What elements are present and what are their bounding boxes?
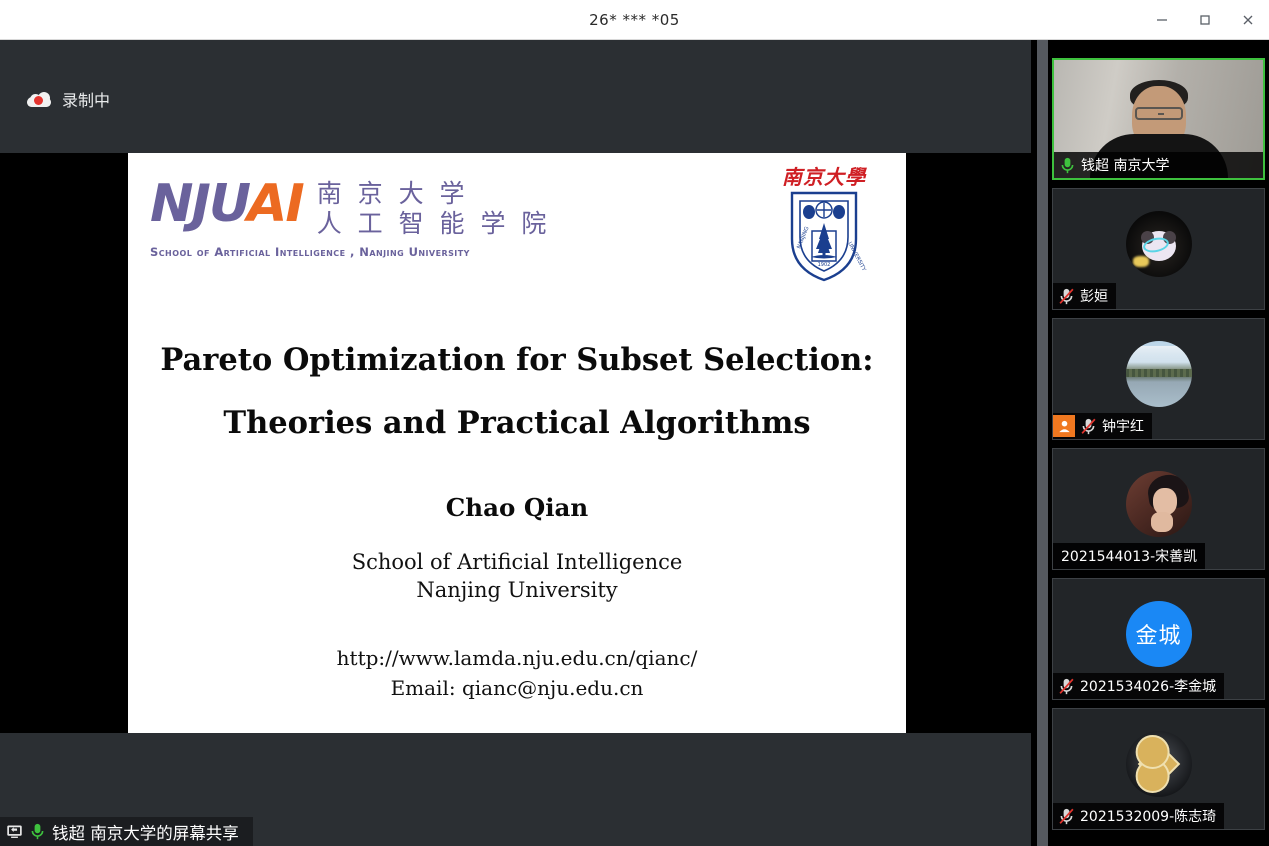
seal-cn-text: 南京大學 xyxy=(778,167,870,187)
slide-email: Email: qianc@nju.edu.cn xyxy=(128,673,906,703)
participant-namebar: 钟宇红 xyxy=(1053,413,1152,439)
presentation-slide: NJU AI 南 京 大 学 人 工 智 能 学 院 School of Art… xyxy=(128,153,906,733)
slide-homepage-url: http://www.lamda.nju.edu.cn/qianc/ xyxy=(128,643,906,673)
participant-name: 2021544013-宋善凯 xyxy=(1061,546,1197,566)
maximize-icon[interactable] xyxy=(1183,0,1226,40)
nju-ai-logo: NJU AI 南 京 大 学 人 工 智 能 学 院 School of Art… xyxy=(150,178,550,259)
logo-cn-line2: 人 工 智 能 学 院 xyxy=(317,210,551,238)
slide-contact: http://www.lamda.nju.edu.cn/qianc/ Email… xyxy=(128,643,906,703)
recording-label: 录制中 xyxy=(62,87,110,111)
participant-namebar: 彭姮 xyxy=(1053,283,1116,309)
participant-avatar xyxy=(1126,471,1192,537)
logo-ai-text: AI xyxy=(247,178,303,230)
participant-avatar xyxy=(1126,341,1192,407)
participant-namebar: 钱超 南京大学 xyxy=(1054,152,1263,178)
participant-namebar: 2021532009-陈志琦 xyxy=(1053,803,1224,829)
logo-subtitle: School of Artificial Intelligence , Nanj… xyxy=(150,245,550,259)
close-icon[interactable] xyxy=(1226,0,1269,40)
participant-tiles: 钱超 南京大学 彭姮 xyxy=(1048,40,1269,846)
participant-tile[interactable]: 2021544013-宋善凯 xyxy=(1052,448,1265,570)
mic-muted-icon xyxy=(1058,807,1075,826)
share-bar-label: 钱超 南京大学的屏幕共享 xyxy=(52,820,239,844)
participant-name: 钱超 南京大学 xyxy=(1081,155,1169,175)
mic-muted-icon xyxy=(1058,677,1075,696)
host-badge-icon xyxy=(1053,415,1075,437)
participant-avatar xyxy=(1126,731,1192,797)
recording-indicator: 录制中 xyxy=(27,87,110,111)
participant-rail: 钱超 南京大学 彭姮 xyxy=(1031,40,1269,846)
slide-title: Pareto Optimization for Subset Selection… xyxy=(128,345,906,438)
minimize-icon[interactable] xyxy=(1140,0,1183,40)
zoom-meeting-window: 26* *** *05 录制中 xyxy=(0,0,1269,846)
screen-share-icon xyxy=(6,822,23,841)
screen-share-status-bar: 钱超 南京大学的屏幕共享 xyxy=(0,817,253,846)
participant-tile[interactable]: 钟宇红 xyxy=(1052,318,1265,440)
cloud-recording-icon xyxy=(27,92,51,107)
njuai-wordmark: NJU AI xyxy=(150,178,303,230)
participant-tile[interactable]: 2021532009-陈志琦 xyxy=(1052,708,1265,830)
logo-cn-line1: 南 京 大 学 xyxy=(317,180,551,208)
nju-seal: 南京大學 1902 NANJING UNIVERSITY xyxy=(778,167,870,289)
slide-title-line2: Theories and Practical Algorithms xyxy=(128,408,906,439)
participant-tile[interactable]: 钱超 南京大学 xyxy=(1052,58,1265,180)
shared-screen-stage: 录制中 NJU AI 南 京 大 学 人 工 智 能 学 院 School of… xyxy=(0,40,1031,846)
participant-rail-scrollbar[interactable] xyxy=(1037,40,1048,846)
window-title: 26* *** *05 xyxy=(589,11,680,29)
participant-tile[interactable]: 金城 2021534026-李金城 xyxy=(1052,578,1265,700)
mic-unmuted-icon xyxy=(29,822,46,841)
participant-avatar: 金城 xyxy=(1126,601,1192,667)
participant-namebar: 2021544013-宋善凯 xyxy=(1053,543,1205,569)
avatar-initials: 金城 xyxy=(1135,618,1181,650)
slide-affiliation: School of Artificial Intelligence Nanjin… xyxy=(128,549,906,605)
participant-namebar: 2021534026-李金城 xyxy=(1053,673,1224,699)
participant-name: 2021532009-陈志琦 xyxy=(1080,806,1216,826)
participant-name: 钟宇红 xyxy=(1102,416,1144,436)
logo-nju-text: NJU xyxy=(150,178,249,230)
slide-title-line1: Pareto Optimization for Subset Selection… xyxy=(128,345,906,376)
window-titlebar: 26* *** *05 xyxy=(0,0,1269,40)
mic-muted-icon xyxy=(1058,287,1075,306)
participant-name: 2021534026-李金城 xyxy=(1080,676,1216,696)
participant-name: 彭姮 xyxy=(1080,286,1108,306)
participant-tile[interactable]: 彭姮 xyxy=(1052,188,1265,310)
participant-avatar xyxy=(1126,211,1192,277)
seal-shield-icon: 1902 NANJING UNIVERSITY xyxy=(778,187,870,283)
mic-unmuted-icon xyxy=(1059,156,1076,175)
seal-year: 1902 xyxy=(818,262,831,268)
slide-affiliation-line1: School of Artificial Intelligence xyxy=(128,549,906,577)
stage-top-letterbox xyxy=(0,40,1031,153)
slide-author: Chao Qian xyxy=(128,493,906,522)
mic-muted-icon xyxy=(1080,417,1097,436)
slide-affiliation-line2: Nanjing University xyxy=(128,577,906,605)
window-controls xyxy=(1140,0,1269,40)
